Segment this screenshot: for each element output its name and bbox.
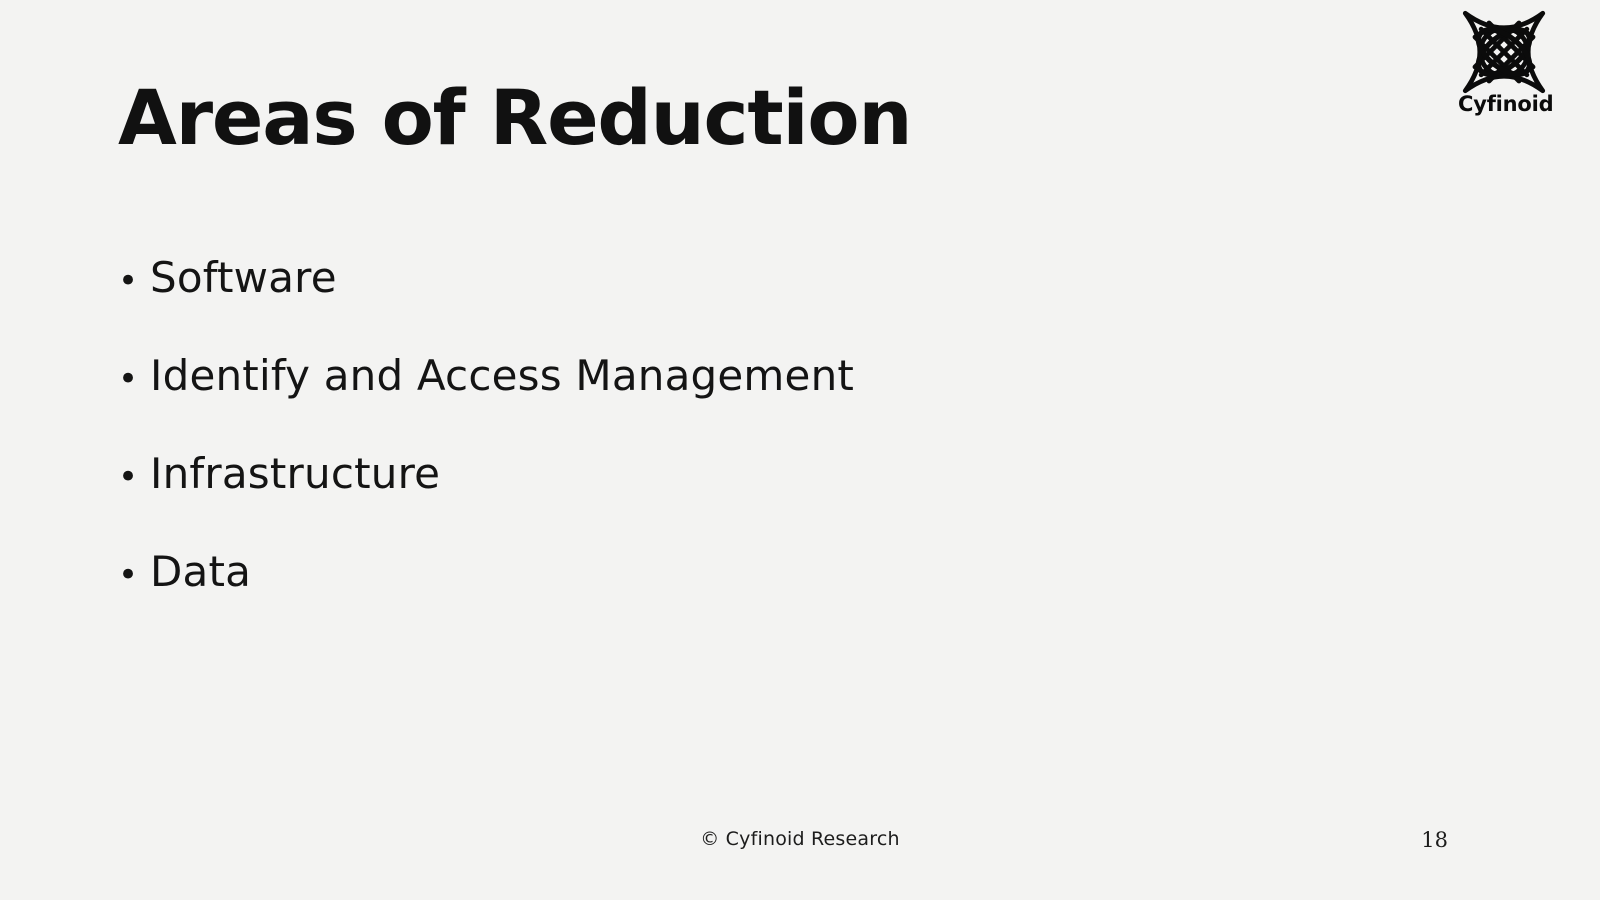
bullet-icon: • [118, 353, 150, 405]
list-item-label: Software [150, 252, 337, 304]
brand-wordmark: Cyfinoid [1458, 94, 1550, 115]
bullet-icon: • [118, 451, 150, 503]
bullet-list: • Software • Identify and Access Managem… [118, 252, 1418, 644]
slide-canvas: Cyfinoid Areas of Reduction • Software •… [0, 0, 1600, 900]
page-number: 18 [1421, 828, 1448, 852]
list-item: • Identify and Access Management [118, 350, 1418, 448]
footer-copyright: © Cyfinoid Research [0, 828, 1600, 850]
bullet-icon: • [118, 255, 150, 307]
list-item: • Data [118, 546, 1418, 644]
list-item-label: Identify and Access Management [150, 350, 854, 402]
bullet-icon: • [118, 549, 150, 601]
list-item-label: Infrastructure [150, 448, 440, 500]
cyfinoid-star-knot-icon [1460, 8, 1548, 96]
list-item: • Software [118, 252, 1418, 350]
list-item: • Infrastructure [118, 448, 1418, 546]
page-title: Areas of Reduction [118, 78, 911, 158]
list-item-label: Data [150, 546, 251, 598]
brand-logo: Cyfinoid [1458, 8, 1550, 115]
